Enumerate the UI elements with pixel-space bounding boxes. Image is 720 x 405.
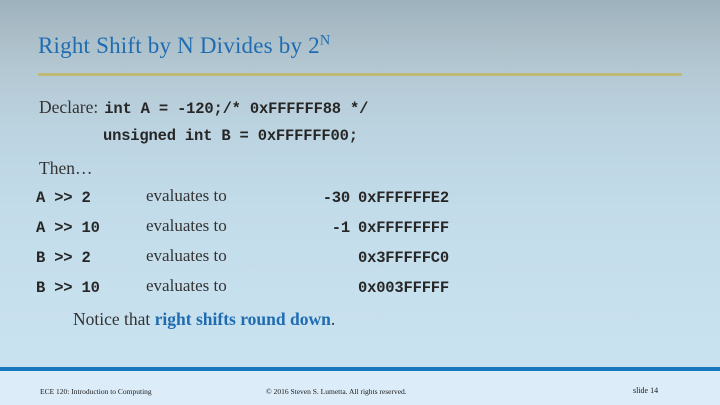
row-decimal-value: -30 (250, 189, 350, 207)
note-suffix: . (331, 309, 335, 329)
declare-code-line-2: unsigned int B = 0xFFFFFF00; (103, 127, 358, 145)
evaluation-table: A >> 2 evaluates to -30 0xFFFFFFE2 A >> … (0, 186, 720, 306)
table-row: A >> 10 evaluates to -1 0xFFFFFFFF (0, 216, 720, 246)
row-verb: evaluates to (146, 246, 227, 266)
page-title-text: Right Shift by N Divides by 2 (38, 33, 320, 58)
row-expression: B >> 2 (36, 249, 91, 267)
table-row: B >> 2 evaluates to 0x3FFFFFC0 (0, 246, 720, 276)
row-verb: evaluates to (146, 186, 227, 206)
row-hex-value: 0x3FFFFFC0 (358, 249, 449, 267)
row-expression: B >> 10 (36, 279, 100, 297)
page-title: Right Shift by N Divides by 2N (38, 33, 330, 59)
row-decimal-value: -1 (250, 219, 350, 237)
row-verb: evaluates to (146, 216, 227, 236)
row-hex-value: 0xFFFFFFFF (358, 219, 449, 237)
declare-code-line-1: int A = -120;/* 0xFFFFFF88 */ (104, 100, 368, 118)
footer-slide-number: slide 14 (633, 386, 658, 395)
then-label: Then… (39, 158, 92, 179)
title-underline-rule (38, 73, 682, 76)
footer-copyright: © 2016 Steven S. Lumetta. All rights res… (266, 387, 407, 396)
row-expression: A >> 10 (36, 219, 100, 237)
note-prefix: Notice that (73, 309, 155, 329)
note-emphasis: right shifts round down (155, 309, 331, 329)
row-verb: evaluates to (146, 276, 227, 296)
declare-line-1: Declare:int A = -120;/* 0xFFFFFF88 */ (39, 97, 368, 118)
table-row: A >> 2 evaluates to -30 0xFFFFFFE2 (0, 186, 720, 216)
table-row: B >> 10 evaluates to 0x003FFFFF (0, 276, 720, 306)
row-hex-value: 0x003FFFFF (358, 279, 449, 297)
slide-canvas: Right Shift by N Divides by 2N Declare:i… (0, 0, 720, 405)
page-title-superscript: N (320, 32, 331, 48)
footer-course-label: ECE 120: Introduction to Computing (40, 387, 152, 396)
closing-note: Notice that right shifts round down. (73, 309, 335, 330)
row-hex-value: 0xFFFFFFE2 (358, 189, 449, 207)
row-expression: A >> 2 (36, 189, 91, 207)
declare-label: Declare: (39, 97, 98, 117)
